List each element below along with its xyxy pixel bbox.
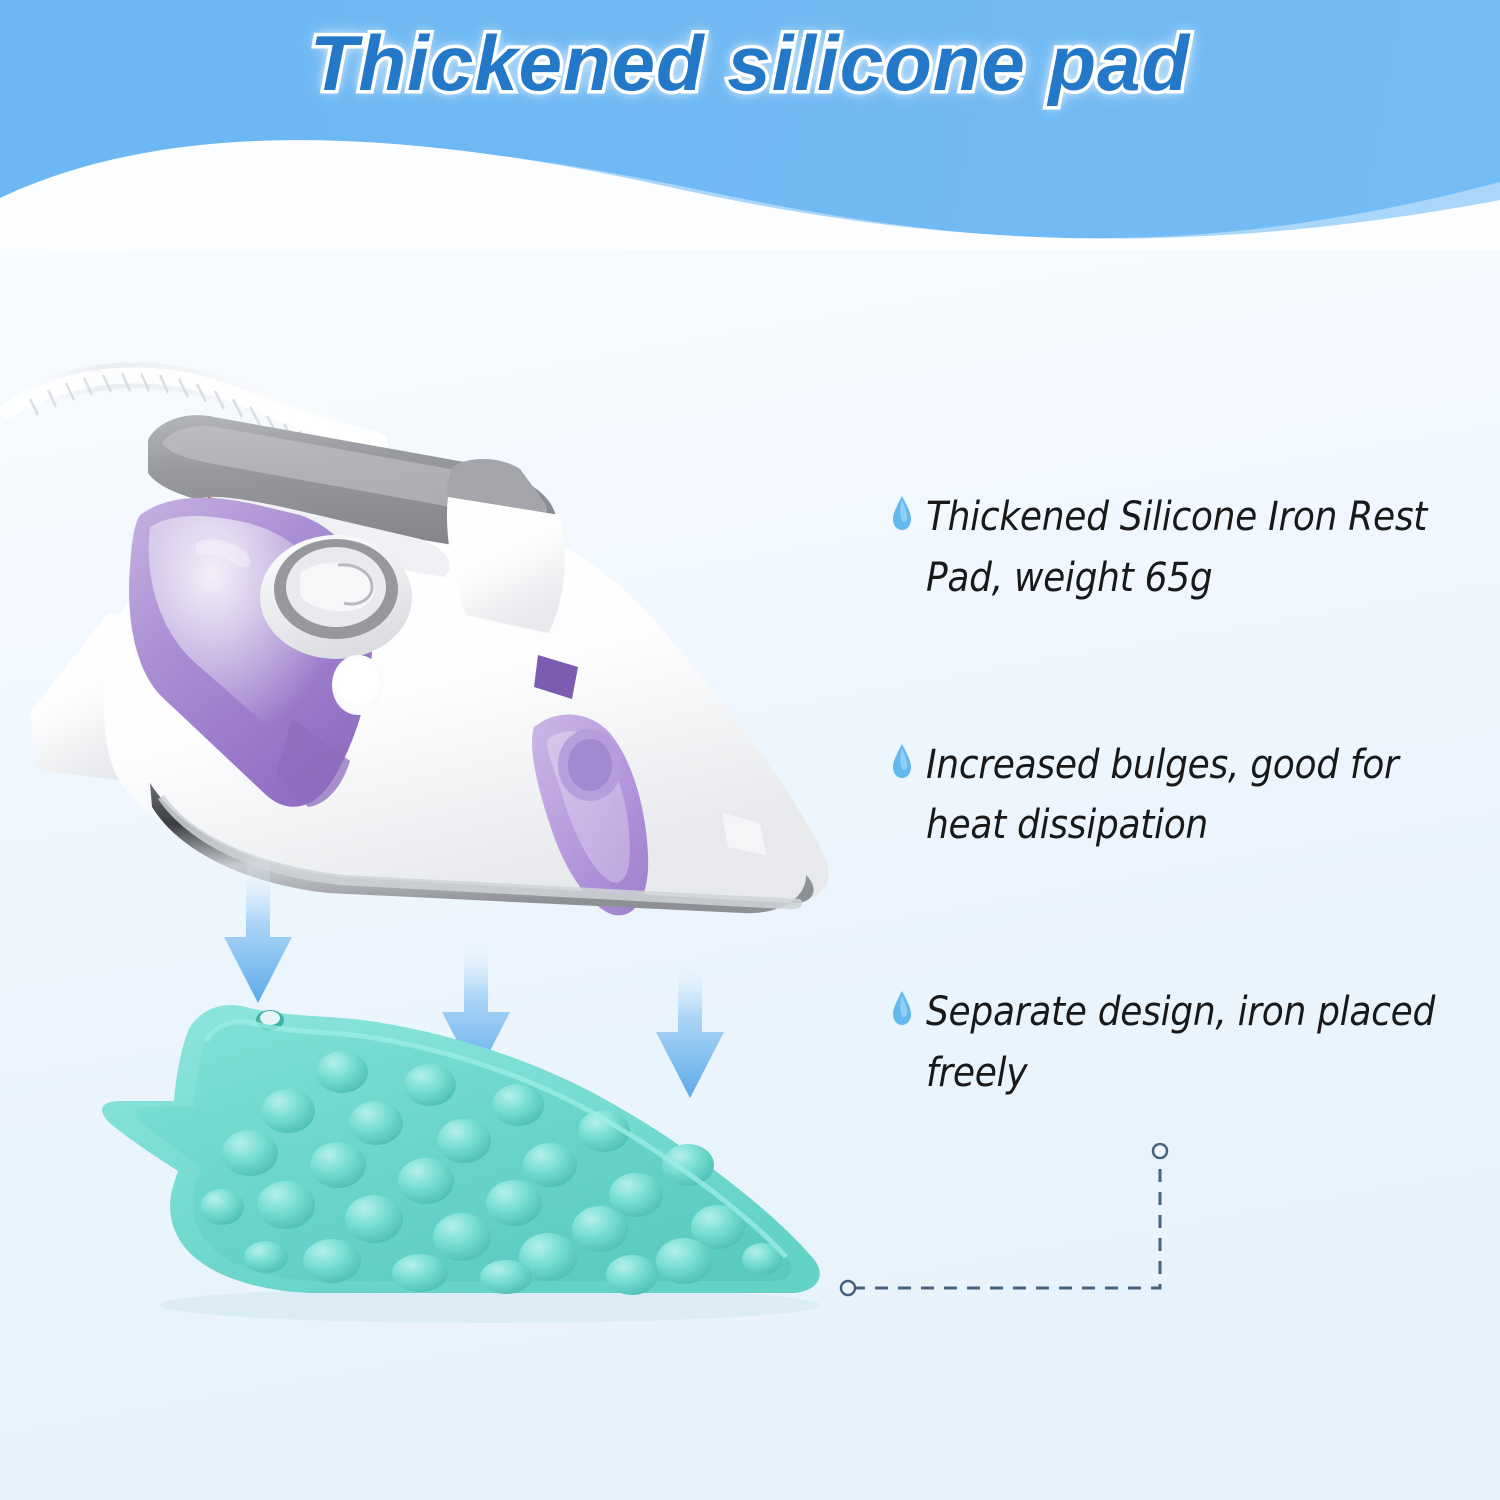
- steam-iron-image: [0, 315, 850, 935]
- iron-nose-valve-inner: [568, 739, 612, 791]
- water-drop-icon: [893, 991, 911, 1025]
- feature-bullet-3: Separate design, iron placed freely: [893, 982, 1483, 1104]
- infographic-page: Thickened silicone pad: [0, 0, 1500, 1500]
- water-drop-icon: [893, 744, 911, 778]
- feature-bullet-3-label: Separate design, iron placed freely: [926, 982, 1483, 1104]
- feature-bullet-1: Thickened Silicone Iron Rest Pad, weight…: [893, 487, 1483, 609]
- feature-bullet-2: Increased bulges, good for heat dissipat…: [893, 735, 1483, 857]
- feature-bullet-1-label: Thickened Silicone Iron Rest Pad, weight…: [926, 487, 1483, 609]
- callout-endpoint-start: [841, 1281, 855, 1295]
- page-title: Thickened silicone pad: [0, 18, 1500, 109]
- callout-leader-line: [830, 1130, 1190, 1310]
- water-drop-icon: [893, 496, 911, 530]
- iron-temperature-dial[interactable]: [260, 535, 412, 659]
- callout-dashed-path: [852, 1156, 1160, 1288]
- feature-bullet-list: Thickened Silicone Iron Rest Pad, weight…: [893, 487, 1483, 1104]
- silicone-pad-image: [70, 975, 900, 1325]
- header-banner: Thickened silicone pad: [0, 0, 1500, 250]
- feature-bullet-2-label: Increased bulges, good for heat dissipat…: [926, 735, 1483, 857]
- callout-endpoint-end: [1153, 1144, 1167, 1158]
- banner-wave-primary: [0, 140, 1500, 250]
